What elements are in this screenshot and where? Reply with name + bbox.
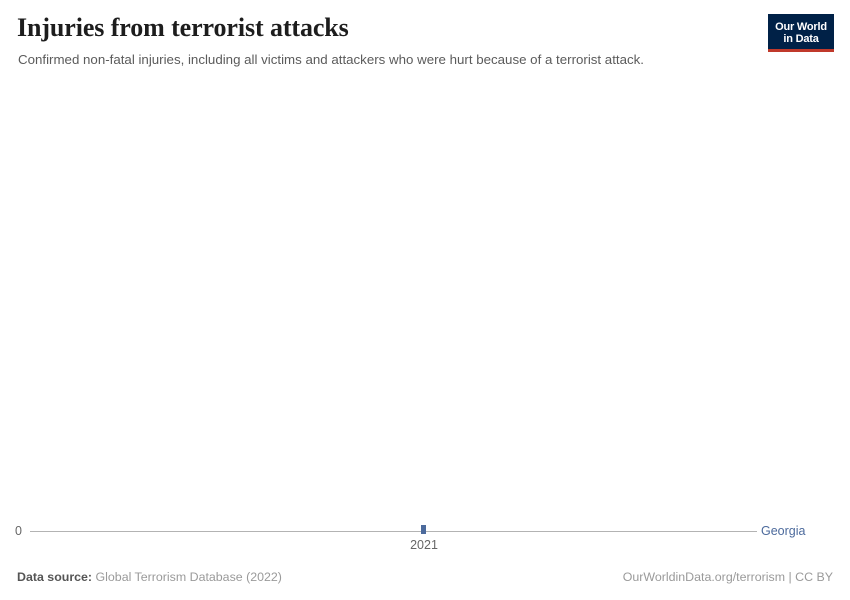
owid-logo[interactable]: Our World in Data	[768, 14, 834, 52]
footer-license-note[interactable]: OurWorldinData.org/terrorism | CC BY	[623, 569, 833, 585]
data-source: Data source: Global Terrorism Database (…	[17, 569, 282, 585]
page-title: Injuries from terrorist attacks	[17, 13, 349, 43]
chart-header: Injuries from terrorist attacks Confirme…	[0, 0, 850, 82]
y-axis-tick-label-0: 0	[15, 523, 22, 539]
series-label-georgia[interactable]: Georgia	[761, 523, 805, 539]
x-axis-tick-label-2021: 2021	[404, 537, 444, 553]
chart-plot-area[interactable]: 0 2021 Georgia	[0, 84, 850, 556]
owid-logo-rule	[768, 49, 834, 52]
chart-subtitle: Confirmed non-fatal injuries, including …	[18, 51, 644, 68]
series-data-point-georgia-2021[interactable]	[421, 525, 426, 534]
data-source-value[interactable]: Global Terrorism Database (2022)	[96, 570, 282, 584]
y-axis-zero-line	[30, 531, 757, 532]
owid-logo-line-2: in Data	[783, 33, 818, 46]
plot-canvas	[0, 84, 850, 556]
owid-logo-line-1: Our World	[775, 21, 827, 34]
data-source-label: Data source:	[17, 570, 92, 584]
chart-footer: Data source: Global Terrorism Database (…	[0, 566, 850, 600]
